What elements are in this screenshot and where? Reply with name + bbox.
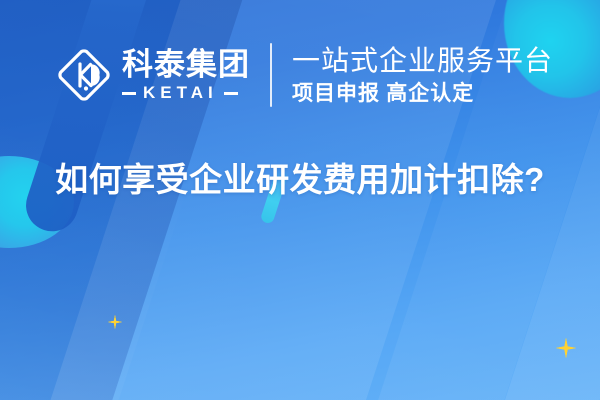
sparkle-left-icon <box>108 315 122 329</box>
brand-name-en: KETAI <box>136 84 224 102</box>
wordmark-rule-right-icon <box>224 92 238 95</box>
banner-root: 科泰集团 KETAI 一站式企业服务平台 项目申报 高企认定 如何享受企业研发费… <box>0 0 600 400</box>
diagonal-band-edge-left <box>0 102 193 400</box>
header-tagline: 一站式企业服务平台 项目申报 高企认定 <box>292 44 553 106</box>
tagline-primary: 一站式企业服务平台 <box>292 44 553 78</box>
tagline-secondary: 项目申报 高企认定 <box>292 80 553 106</box>
brand-logo-wordmark: 科泰集团 KETAI <box>122 48 250 102</box>
brand-name-cn: 科泰集团 <box>122 48 250 82</box>
brand-name-en-row: KETAI <box>122 84 250 102</box>
sparkle-right-icon <box>556 338 576 358</box>
banner-header: 科泰集团 KETAI 一站式企业服务平台 项目申报 高企认定 <box>0 36 600 114</box>
wordmark-rule-left-icon <box>122 92 136 95</box>
brand-logo[interactable]: 科泰集团 KETAI <box>56 47 250 103</box>
page-title: 如何享受企业研发费用加计扣除? <box>0 158 600 202</box>
ketai-diamond-kd-logo-icon <box>56 47 112 103</box>
header-divider <box>270 43 272 107</box>
